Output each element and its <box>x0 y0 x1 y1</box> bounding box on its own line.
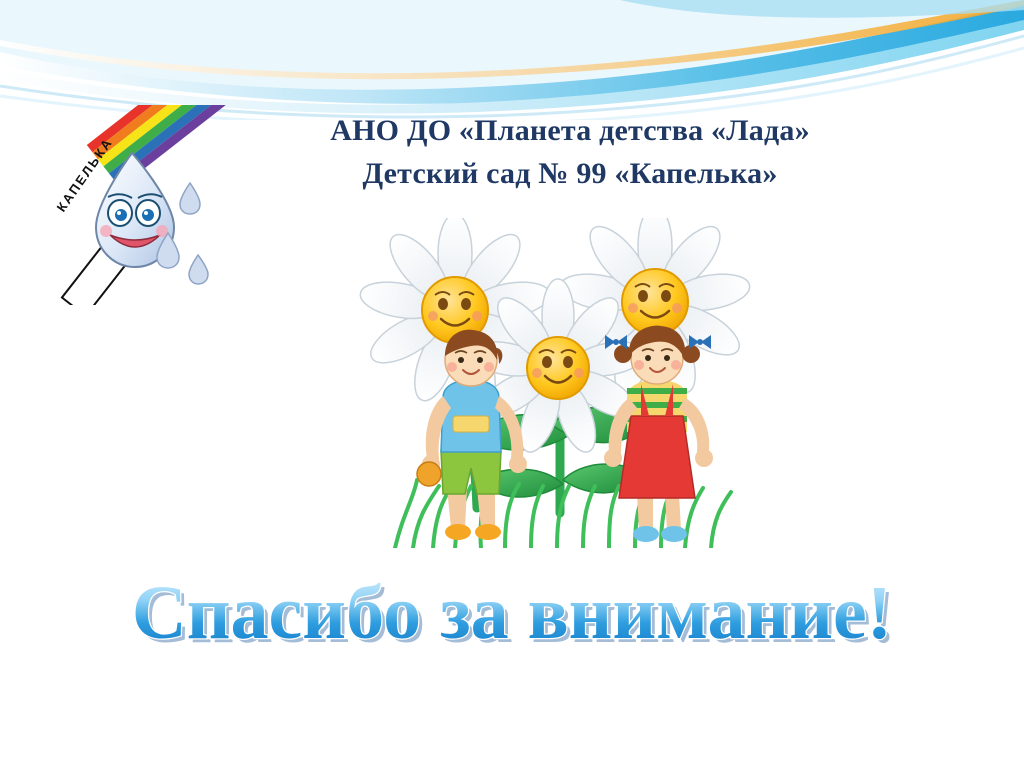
title-line-1: АНО ДО «Планета детства «Лада» <box>250 110 890 153</box>
slide: КАПЕЛЬКА АНО ДО «Планета детства «Лада» … <box>0 0 1024 767</box>
wordart-text: Спасибо за внимание! <box>132 571 892 655</box>
daisies-with-children-illustration <box>355 218 775 548</box>
page-title: АНО ДО «Планета детства «Лада» Детский с… <box>250 110 890 195</box>
wordart-thank-you: Спасибо за внимание! Спасибо за внимание… <box>0 560 1024 670</box>
wave-ribbons-decoration <box>0 0 1024 120</box>
girl-figure <box>604 326 713 542</box>
title-line-2: Детский сад № 99 «Капелька» <box>250 153 890 196</box>
